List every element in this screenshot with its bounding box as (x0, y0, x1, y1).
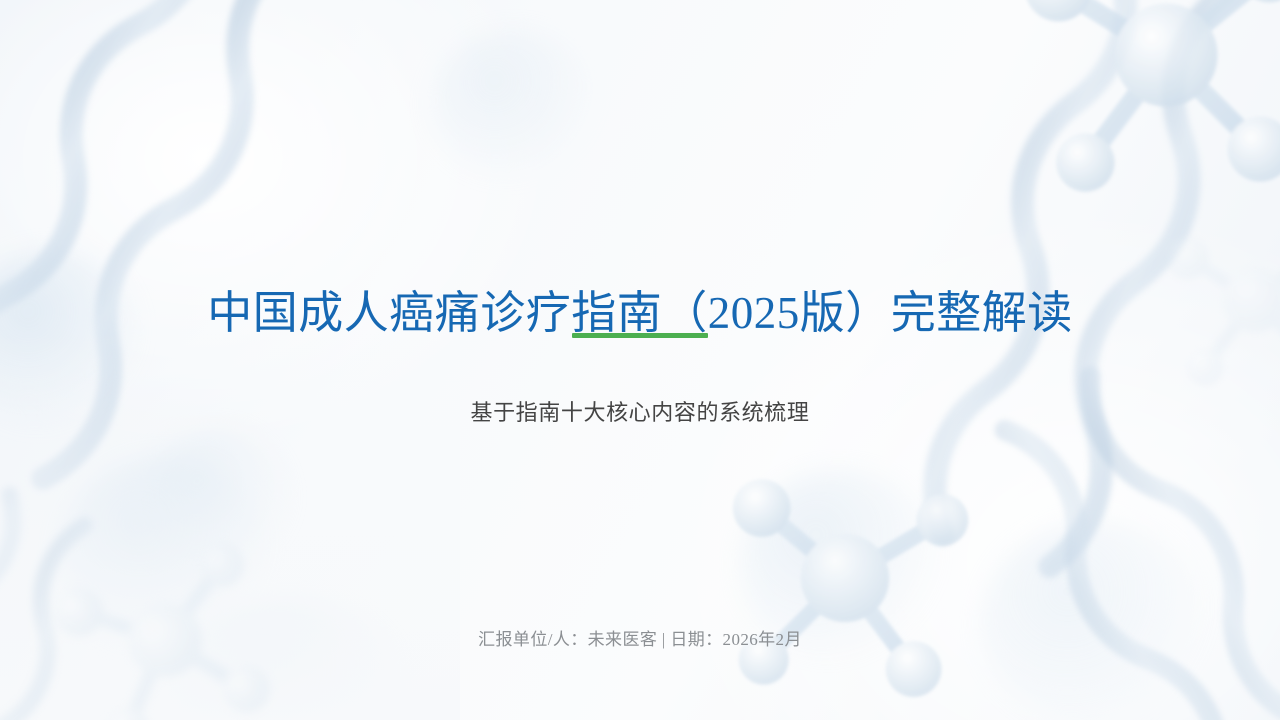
subtitle: 基于指南十大核心内容的系统梳理 (0, 398, 1280, 429)
title-slide: 中国成人癌痛诊疗指南（2025版）完整解读 基于指南十大核心内容的系统梳理 汇报… (0, 0, 1280, 720)
page-title: 中国成人癌痛诊疗指南（2025版）完整解读 (0, 288, 1280, 338)
title-divider (572, 333, 708, 338)
slide-content: 中国成人癌痛诊疗指南（2025版）完整解读 基于指南十大核心内容的系统梳理 汇报… (0, 0, 1280, 720)
presenter-footer: 汇报单位/人：未来医客 | 日期：2026年2月 (0, 628, 1280, 652)
